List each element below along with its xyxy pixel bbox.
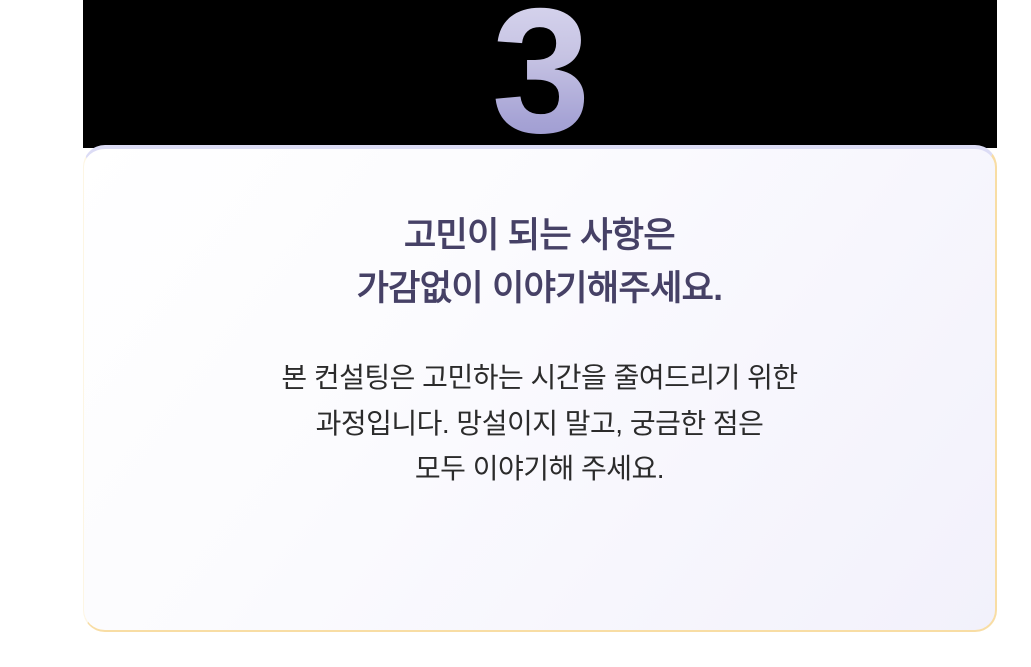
content-card: 고민이 되는 사항은 가감없이 이야기해주세요. 본 컨설팅은 고민하는 시간을… [83, 145, 997, 632]
card-headline: 고민이 되는 사항은 가감없이 이야기해주세요. [357, 209, 723, 315]
body-line-2: 과정입니다. 망설이지 말고, 궁금한 점은 [281, 401, 797, 446]
headline-line-2: 가감없이 이야기해주세요. [357, 262, 723, 315]
card-inner: 고민이 되는 사항은 가감없이 이야기해주세요. 본 컨설팅은 고민하는 시간을… [84, 149, 995, 491]
step-banner: 3 [83, 0, 997, 148]
body-line-3: 모두 이야기해 주세요. [281, 446, 797, 491]
step-number: 3 [83, 0, 997, 148]
headline-line-1: 고민이 되는 사항은 [357, 209, 723, 262]
card-body-copy: 본 컨설팅은 고민하는 시간을 줄여드리기 위한 과정입니다. 망설이지 말고,… [281, 315, 797, 491]
slide-stage: 3 고민이 되는 사항은 가감없이 이야기해주세요. 본 컨설팅은 고민하는 시… [0, 0, 1031, 667]
body-line-1: 본 컨설팅은 고민하는 시간을 줄여드리기 위한 [281, 355, 797, 400]
